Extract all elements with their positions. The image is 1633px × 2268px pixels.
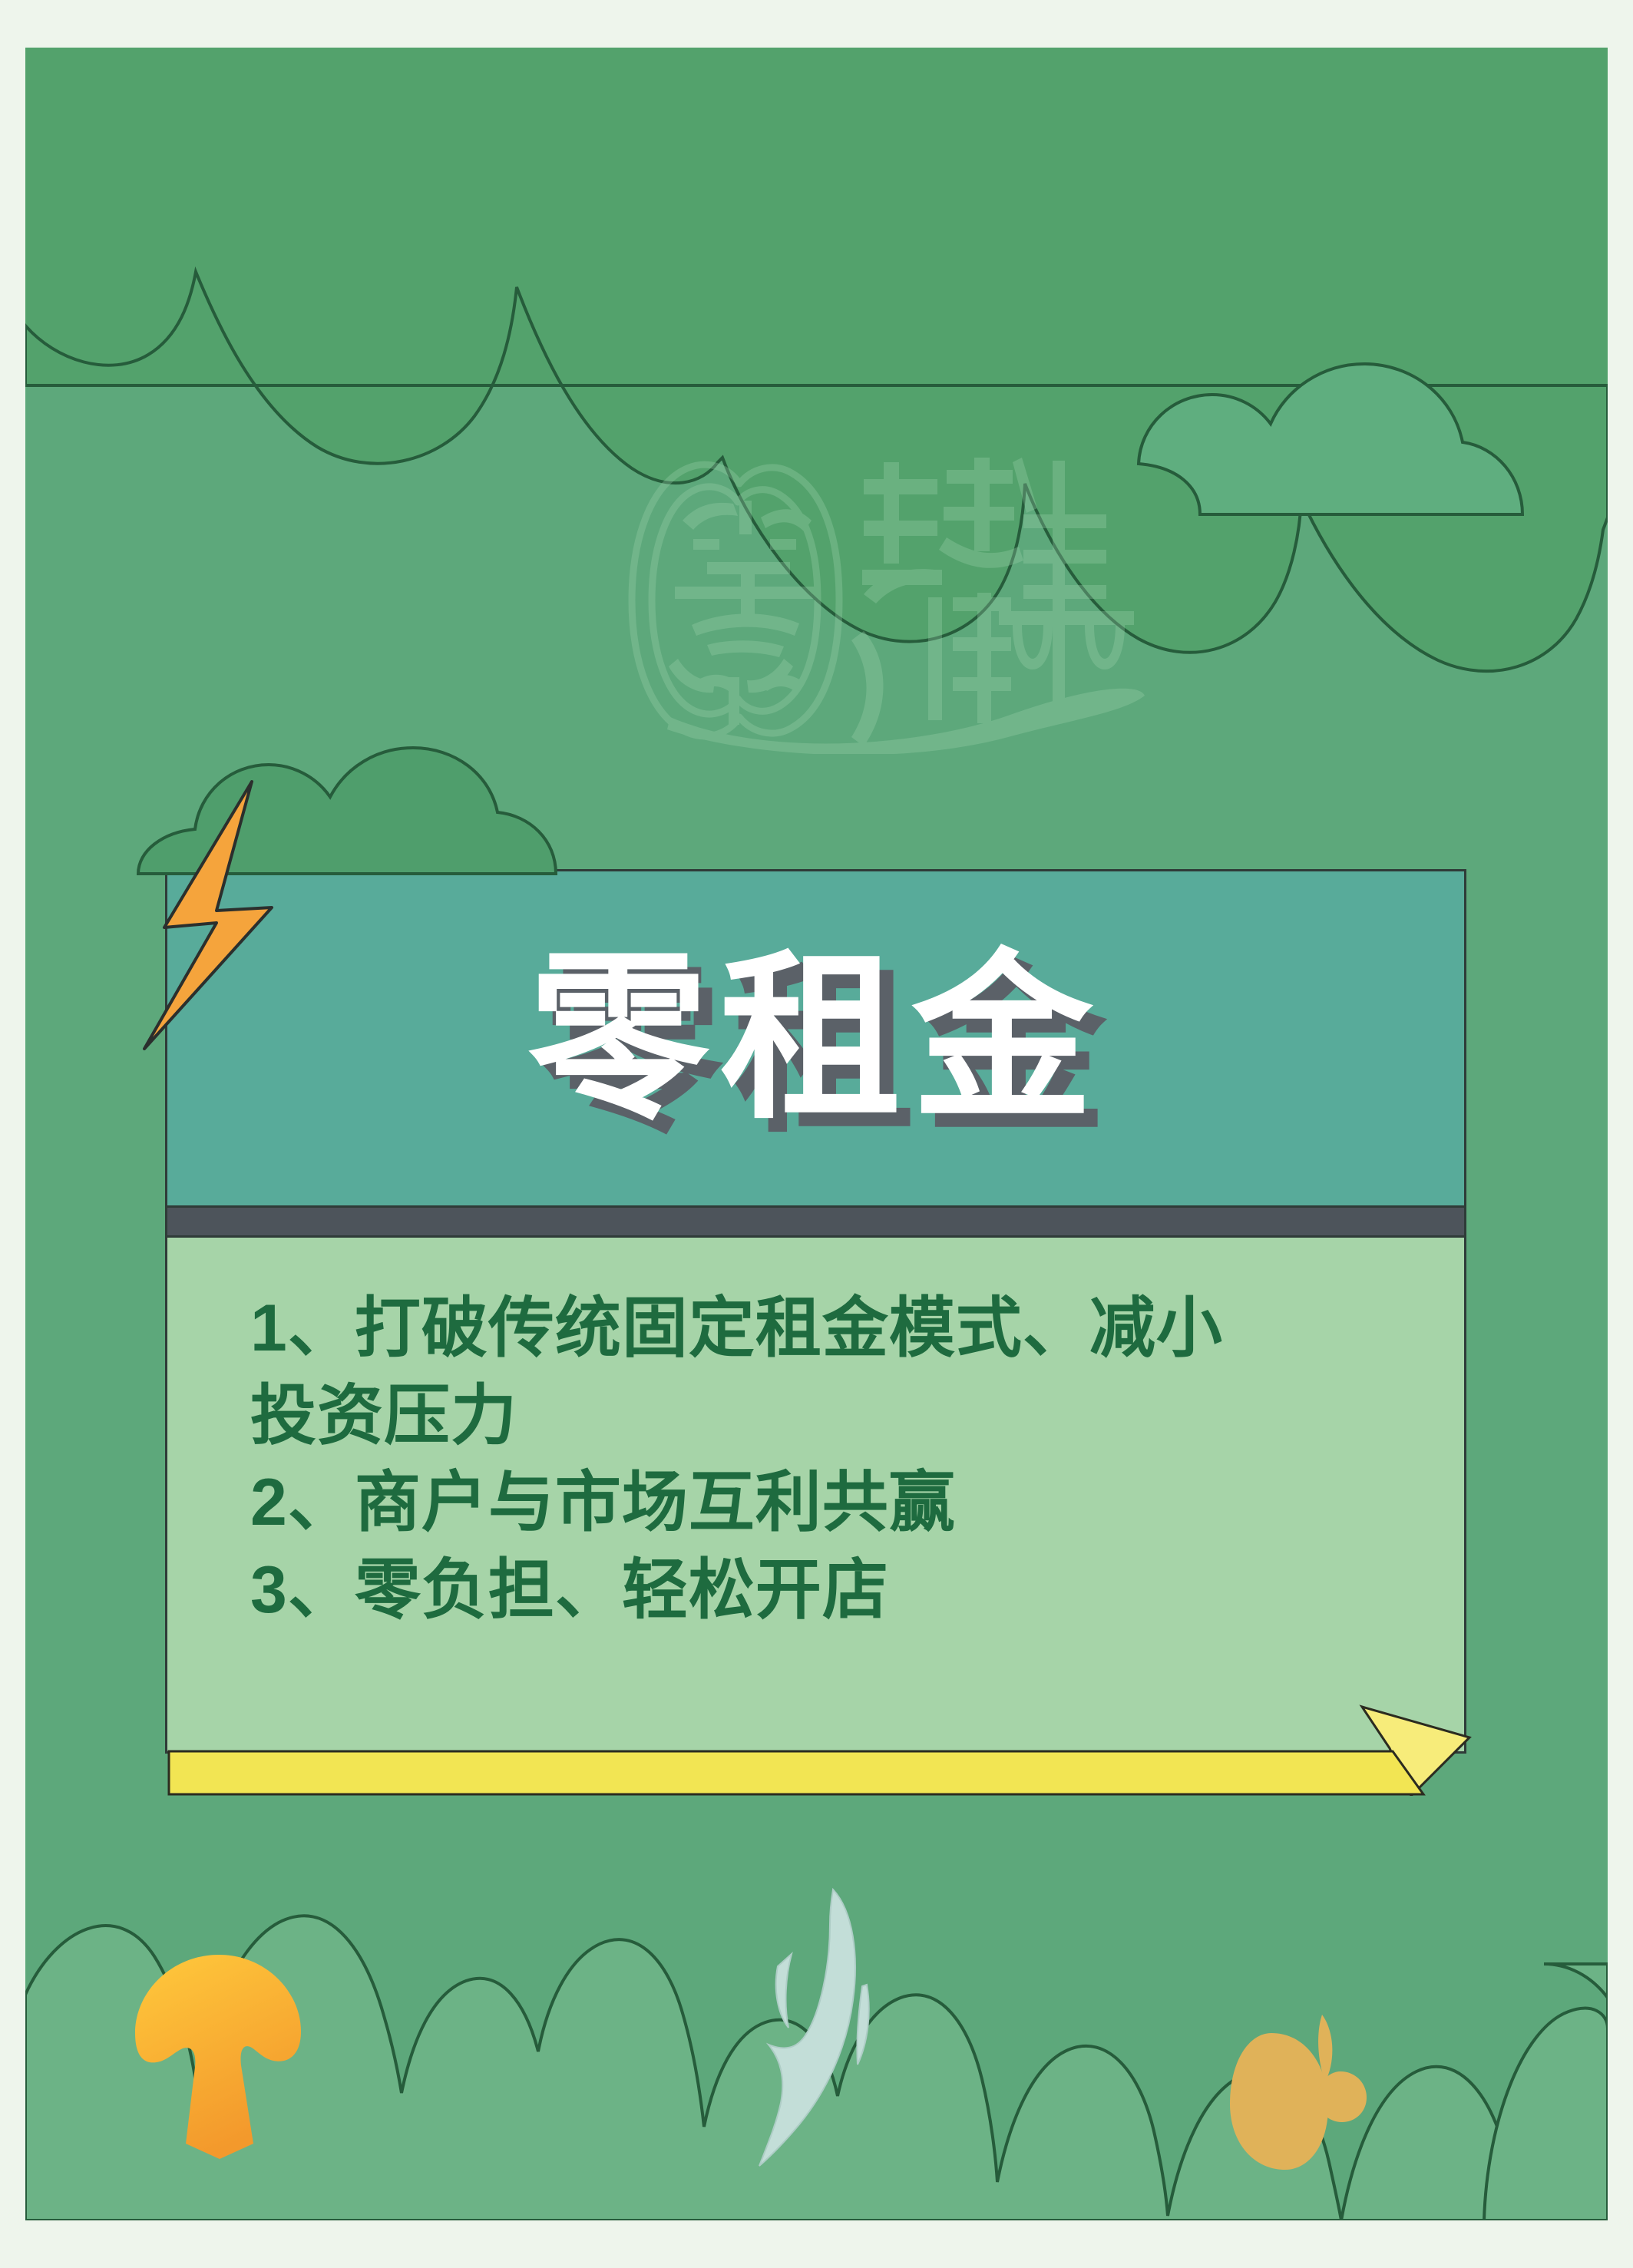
benefit-line-3: 2、商户与市场互利共赢 [250,1460,1433,1547]
bolt-icon [137,777,306,1053]
fish-icon [741,1885,910,2184]
sky-band [25,48,1608,385]
card-body: 1、打破传统固定租金模式、减小 投资压力 2、商户与市场互利共赢 3、零负担、轻… [165,1238,1466,1754]
brand-watermark-logo [517,447,1146,754]
hill-right-icon [1484,2008,1608,2220]
poster-canvas: 零租金 1、打破传统固定租金模式、减小 投资压力 2、商户与市场互利共赢 3、零… [0,0,1633,2268]
tape-strip [169,1751,1423,1794]
benefit-line-2: 投资压力 [250,1373,1433,1460]
tape-ribbon-icon [164,1704,1477,1796]
card-divider [165,1205,1466,1238]
benefit-list: 1、打破传统固定租金模式、减小 投资压力 2、商户与市场互利共赢 3、零负担、轻… [250,1285,1433,1634]
card-header: 零租金 [165,869,1466,1205]
fruit-icon [1205,2012,1367,2180]
watermark-icon [517,447,1146,754]
page-title: 零租金 [167,948,1464,1129]
mushroom-icon [131,1952,307,2159]
benefit-line-1: 1、打破传统固定租金模式、减小 [250,1285,1433,1373]
feature-card: 零租金 1、打破传统固定租金模式、减小 投资压力 2、商户与市场互利共赢 3、零… [165,869,1466,1754]
benefit-line-4: 3、零负担、轻松开店 [250,1547,1433,1635]
